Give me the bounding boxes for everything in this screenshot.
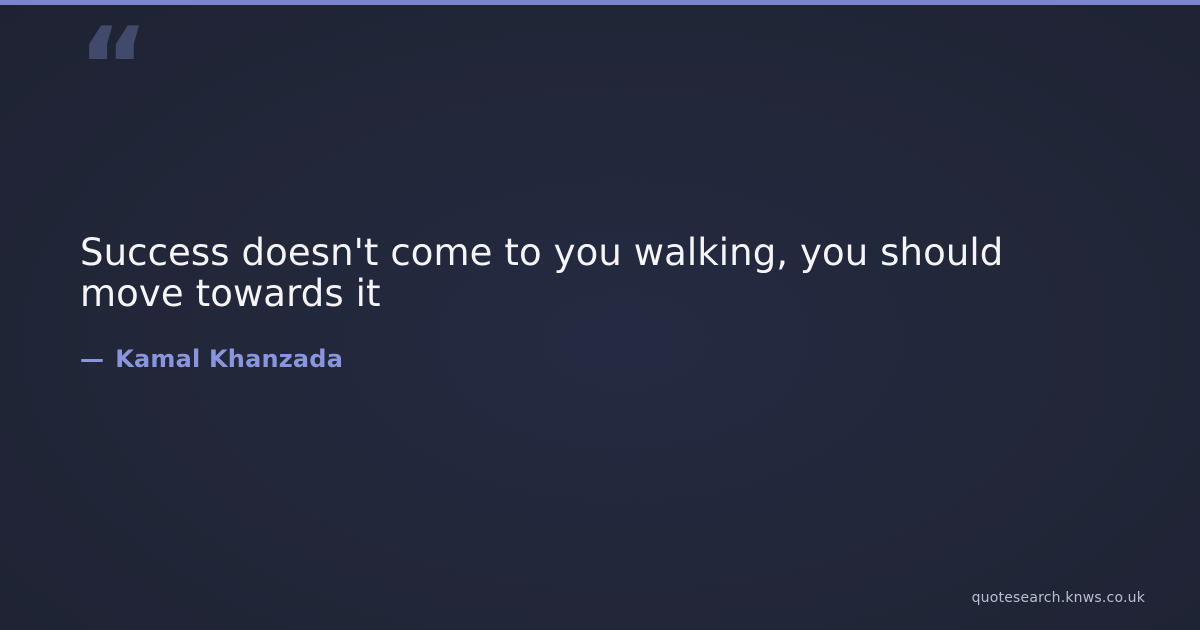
top-accent-bar <box>0 0 1200 5</box>
site-watermark: quotesearch.knws.co.uk <box>972 590 1145 606</box>
author-name: Kamal Khanzada <box>115 345 343 373</box>
quote-text: Success doesn't come to you walking, you… <box>80 232 1015 315</box>
attribution: — Kamal Khanzada <box>80 345 1120 373</box>
attribution-dash-icon: — <box>80 345 104 373</box>
quote-card: “ Success doesn't come to you walking, y… <box>0 0 1200 630</box>
quote-content: Success doesn't come to you walking, you… <box>80 232 1120 373</box>
open-quote-icon: “ <box>78 14 147 122</box>
